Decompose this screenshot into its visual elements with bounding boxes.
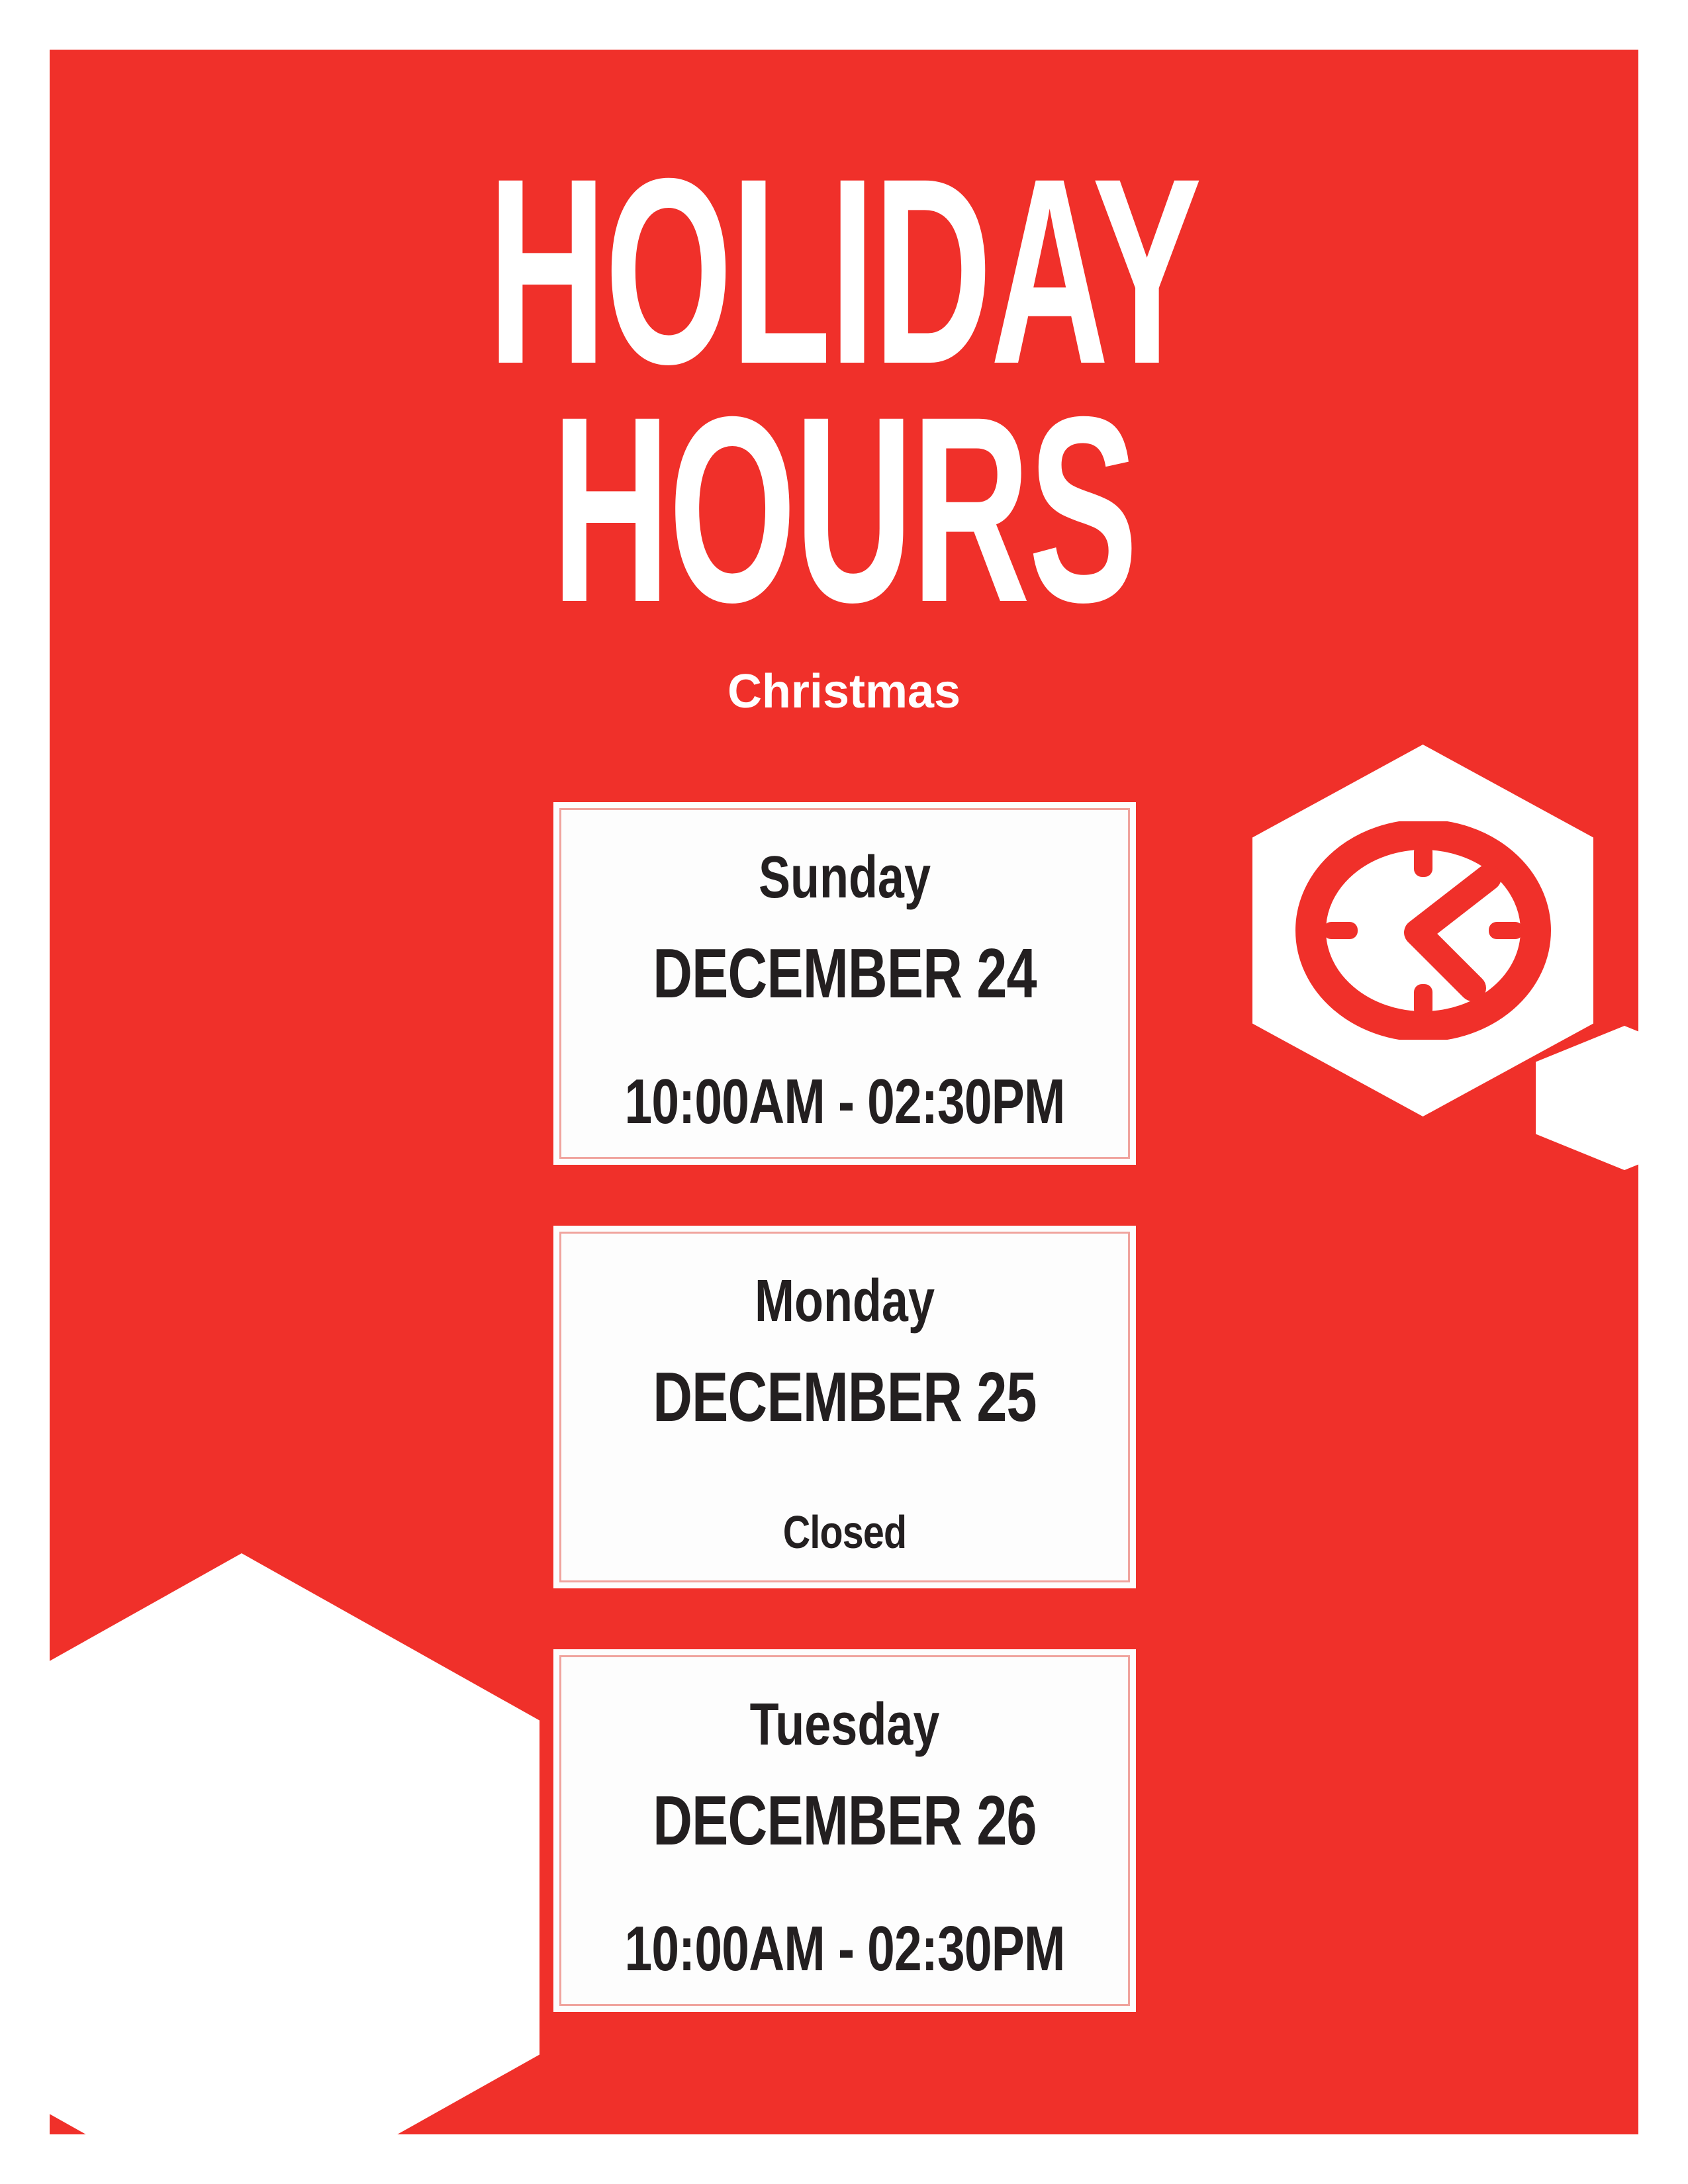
schedule-card-date: DECEMBER 26 [618,1782,1072,1860]
schedule-card-day: Sunday [612,843,1078,912]
schedule-card-hours: 10:00AM - 02:30PM [618,1067,1072,1137]
schedule-card: Tuesday DECEMBER 26 10:00AM - 02:30PM [553,1649,1136,2012]
hexagon-shape-bottom-left [50,1553,539,2134]
page-title-line-1: HOLIDAY [352,152,1336,390]
page-subtitle: Christmas [50,665,1638,718]
schedule-card-day: Tuesday [612,1690,1078,1759]
schedule-card-date: DECEMBER 24 [618,934,1072,1013]
schedule-card-hours: 10:00AM - 02:30PM [618,1914,1072,1984]
page-title-line-2: HOURS [352,390,1336,629]
schedule-card: Monday DECEMBER 25 Closed [553,1226,1136,1588]
schedule-card: Sunday DECEMBER 24 10:00AM - 02:30PM [553,802,1136,1165]
clock-badge [1252,745,1593,1116]
schedule-card-date: DECEMBER 25 [618,1358,1072,1436]
schedule-list: Sunday DECEMBER 24 10:00AM - 02:30PM Mon… [553,802,1136,2012]
clock-icon [1294,821,1552,1040]
schedule-card-hours: Closed [606,1497,1084,1567]
holiday-hours-poster: HOLIDAY HOURS Christmas Sunday DE [0,0,1688,2184]
schedule-card-day: Monday [612,1267,1078,1336]
red-background-panel: HOLIDAY HOURS Christmas Sunday DE [50,50,1638,2134]
page-title: HOLIDAY HOURS [352,152,1336,629]
